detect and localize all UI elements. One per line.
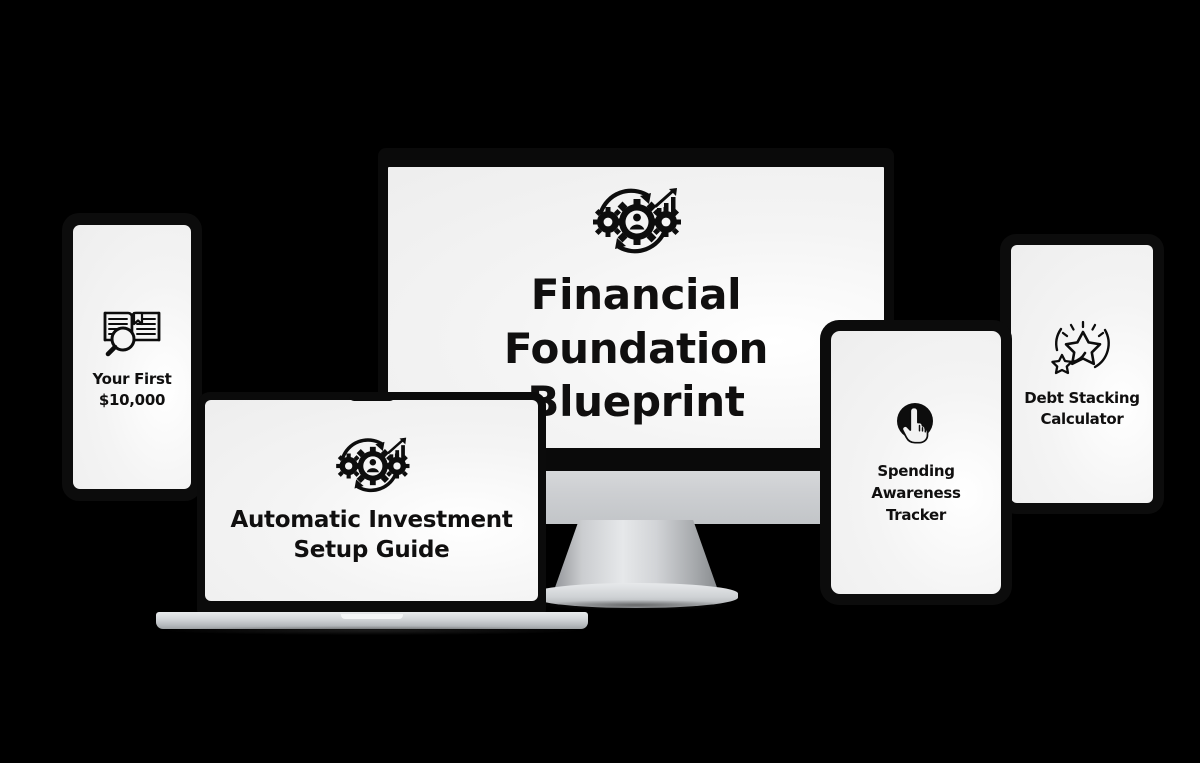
laptop-screen[interactable]: Automatic Investment Setup Guide [205,400,538,601]
desktop-monitor-shadow [540,600,732,610]
laptop-title-line-1: Automatic Investment [230,505,512,535]
tablet-left-screen[interactable]: Your First $10,000 [73,225,191,489]
phone-title-line-3: Tracker [886,505,946,527]
phone-title-line-2: Awareness [871,483,960,505]
laptop-camera-notch [349,392,395,401]
tablet-right-screen[interactable]: Debt Stacking Calculator [1011,245,1153,503]
phone-title-line-1: Spending [877,461,954,483]
tablet-left-title-line-1: Your First [93,369,172,390]
monitor-title-line-1: Financial Foundation [394,268,878,376]
gears-person-growth-chart-icon [581,186,691,258]
tablet-right-bezel: Debt Stacking Calculator [1000,234,1164,514]
tablet-right-title-line-2: Calculator [1041,409,1124,430]
tablet-left-title-line-2: $10,000 [99,390,165,411]
monitor-title-line-2: Blueprint [527,375,744,429]
tablet-right-title-line-1: Debt Stacking [1024,388,1139,409]
laptop-shadow [168,626,576,635]
pointing-hand-circle-icon [890,398,942,450]
gears-person-growth-chart-icon [326,436,418,496]
laptop-lid-grip-notch [341,614,403,619]
laptop-title-line-2: Setup Guide [294,535,450,565]
phone-bezel: Spending Awareness Tracker [820,320,1012,605]
phone-screen[interactable]: Spending Awareness Tracker [831,331,1001,594]
laptop-lid: Automatic Investment Setup Guide [197,392,546,614]
open-book-magnifier-icon [101,304,163,358]
sparkle-stars-icon [1049,318,1115,376]
device-mockup-stage: Financial Foundation Blueprint [0,0,1200,763]
tablet-left-bezel: Your First $10,000 [62,213,202,501]
